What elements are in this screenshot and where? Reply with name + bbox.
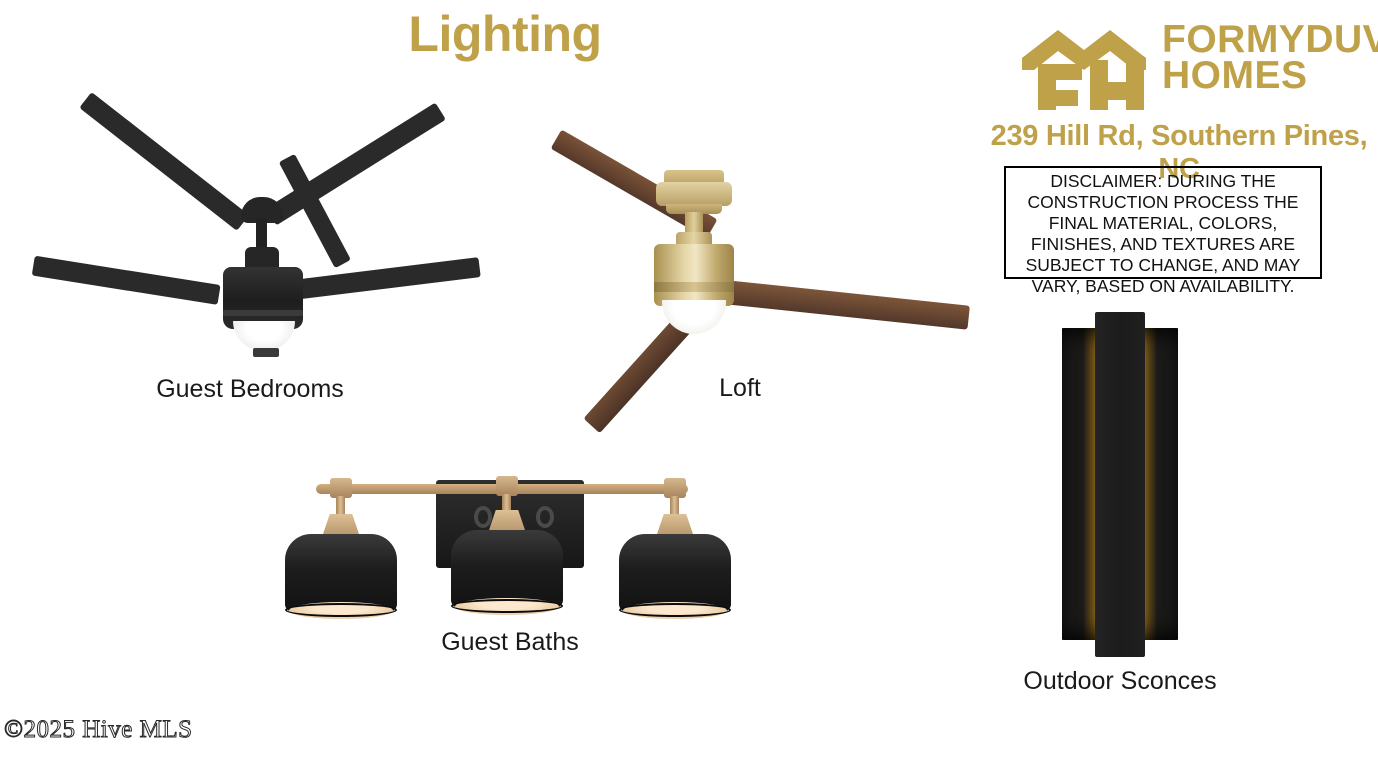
product-image-outdoor-sconce — [1050, 312, 1190, 657]
vanity-knob-left — [330, 478, 352, 498]
vanity-rim-left — [285, 603, 397, 617]
page-title: Lighting — [0, 6, 1010, 64]
vanity-shade-left — [285, 534, 397, 612]
vanity-rim-center — [451, 599, 563, 613]
vanity-shade-right — [619, 534, 731, 612]
brand-logo: FORMYDUVAL HOMES — [1022, 18, 1372, 114]
vanity-knob-center — [496, 476, 518, 496]
lighting-selection-slide: Lighting FORMYDUVAL HOMES 239 Hill Rd, S… — [0, 0, 1378, 768]
fan-motor-band — [223, 310, 303, 316]
vanity-loop-right — [536, 506, 554, 528]
brand-wordmark: FORMYDUVAL HOMES — [1162, 22, 1378, 94]
fan-canopy-collar — [656, 182, 732, 206]
mls-watermark: ©2025 Hive MLS — [4, 716, 193, 744]
brand-name-line2: HOMES — [1162, 58, 1378, 94]
vanity-loop-left — [474, 506, 492, 528]
product-image-loft-ceiling-fan — [528, 160, 983, 375]
product-image-guest-baths-vanity-light — [268, 462, 758, 632]
vanity-rim-right — [619, 603, 731, 617]
fan-motor-housing — [654, 244, 734, 306]
fan-pull-chain — [253, 348, 279, 357]
fan-light-kit — [233, 321, 295, 351]
caption-guest-baths: Guest Baths — [350, 628, 670, 657]
fh-house-logo-icon — [1022, 24, 1146, 110]
caption-loft: Loft — [620, 374, 860, 403]
caption-guest-bedrooms: Guest Bedrooms — [85, 375, 415, 404]
product-image-guest-bedrooms-ceiling-fan — [25, 185, 480, 370]
brand-name-line1: FORMYDUVAL — [1162, 22, 1378, 58]
disclaimer-text: DISCLAIMER: DURING THE CONSTRUCTION PROC… — [1004, 171, 1322, 297]
vanity-knob-right — [664, 478, 686, 498]
caption-outdoor-sconces: Outdoor Sconces — [955, 667, 1285, 696]
vanity-shade-center — [451, 530, 563, 608]
sconce-center-bar — [1095, 312, 1145, 657]
fan-motor-band — [654, 282, 734, 292]
fan-motor-housing — [223, 267, 303, 329]
